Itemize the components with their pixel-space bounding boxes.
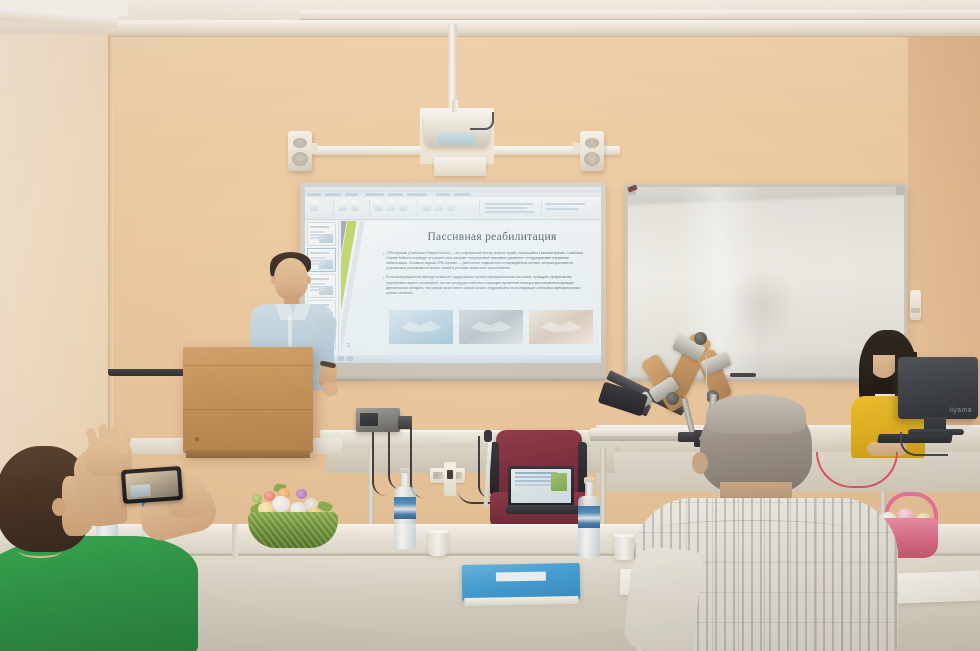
slide-number: 2: [347, 343, 350, 349]
presenter-ear: [306, 276, 311, 284]
audience-photographer-person: [0, 440, 220, 651]
pointer-tip: [484, 430, 492, 442]
folder-label: [496, 572, 546, 582]
slide-title: Пассивная реабилитация: [393, 231, 591, 243]
desk-seam: [232, 524, 238, 558]
wall-speaker-right: [580, 131, 604, 171]
robot-joint: [694, 332, 707, 345]
slide-image: [389, 310, 453, 344]
water-bottle: [578, 482, 600, 558]
smartphone[interactable]: [121, 466, 183, 504]
projection-surface[interactable]: Пассивная реабилитация • CPM-терапия (Co…: [305, 187, 601, 363]
control-unit-small: [398, 416, 412, 429]
active-slide: Пассивная реабилитация • CPM-терапия (Co…: [341, 221, 599, 354]
flower: [296, 489, 307, 499]
blue-folder: [462, 563, 581, 601]
finger: [98, 424, 109, 447]
computer-monitor[interactable]: iiyama: [898, 357, 978, 419]
slide-image: [529, 310, 593, 344]
slide-thumbnail[interactable]: [307, 222, 336, 246]
desk-cable: [900, 432, 948, 456]
audience-member-striped-shirt: [648, 398, 896, 651]
plastic-cup: [428, 530, 448, 556]
ceiling-cornice: [112, 20, 980, 37]
wall-sensor-icon: [910, 290, 921, 320]
slide-image: [459, 310, 523, 344]
projector-cable: [470, 112, 494, 130]
slide-body: • CPM-терапия (Continuous Passive Motion…: [383, 251, 591, 300]
slide-bullet-item: • В послеоперационном периоде позволяет …: [383, 275, 591, 295]
photographer-ear: [52, 498, 66, 516]
interactive-whiteboard[interactable]: Пассивная реабилитация • CPM-терапия (Co…: [300, 182, 606, 378]
necklace-icon: [18, 544, 62, 558]
laptop-base: [506, 505, 580, 514]
ceiling-cable-rail: [300, 10, 980, 20]
presentation-room-photo: Пассивная реабилитация • CPM-терапия (Co…: [0, 0, 980, 651]
ribbon-toolbar[interactable]: [305, 197, 601, 220]
plastic-cup: [614, 534, 634, 560]
presenter-head: [274, 258, 308, 300]
slide-image-row: [389, 308, 593, 344]
wall-corner-edge: [108, 0, 113, 460]
powerpoint-window[interactable]: Пассивная реабилитация • CPM-терапия (Co…: [305, 187, 601, 363]
smartphone-screen[interactable]: [125, 470, 179, 500]
slide-bullet-text: CPM-терапия (Continuous Passive Motion) …: [386, 251, 591, 271]
finger: [109, 426, 120, 449]
board-bottom-ledge: [300, 375, 606, 381]
bottle-label: [394, 497, 416, 519]
slide-bullet-item: • CPM-терапия (Continuous Passive Motion…: [383, 251, 591, 271]
audience-hair: [706, 394, 806, 434]
basket-weave: [248, 512, 338, 548]
presenter-ear: [271, 276, 276, 284]
bullet-icon: •: [383, 251, 384, 271]
monitor-brand-label: iiyama: [949, 407, 972, 414]
laptop-lid: [508, 466, 574, 506]
audience-arm: [623, 545, 703, 651]
flower-basket: [244, 486, 342, 548]
projector-junction-box: [434, 157, 486, 176]
bottle-label: [578, 506, 600, 528]
water-bottle: [394, 473, 416, 549]
speaker-bracket-right: [573, 143, 581, 153]
audience-ear: [692, 452, 708, 474]
powerpoint-statusbar[interactable]: [305, 355, 601, 363]
handout-papers: [896, 571, 980, 604]
flower: [252, 494, 262, 503]
speaker-bracket-left: [310, 143, 318, 153]
table-leg: [600, 448, 606, 526]
audience-shirt-seam: [658, 520, 848, 539]
wall-outlet-plate[interactable]: [444, 462, 456, 496]
podium: [183, 347, 313, 453]
laptop-screen[interactable]: [511, 469, 571, 503]
whiteboard-corner: [896, 186, 905, 195]
control-unit-box: [356, 408, 400, 432]
laptop[interactable]: [506, 466, 580, 518]
flower: [272, 496, 290, 512]
bullet-icon: •: [383, 275, 384, 295]
wall-speaker-left: [288, 131, 312, 171]
slide-bullet-text: В послеоперационном периоде позволяет по…: [386, 275, 591, 295]
